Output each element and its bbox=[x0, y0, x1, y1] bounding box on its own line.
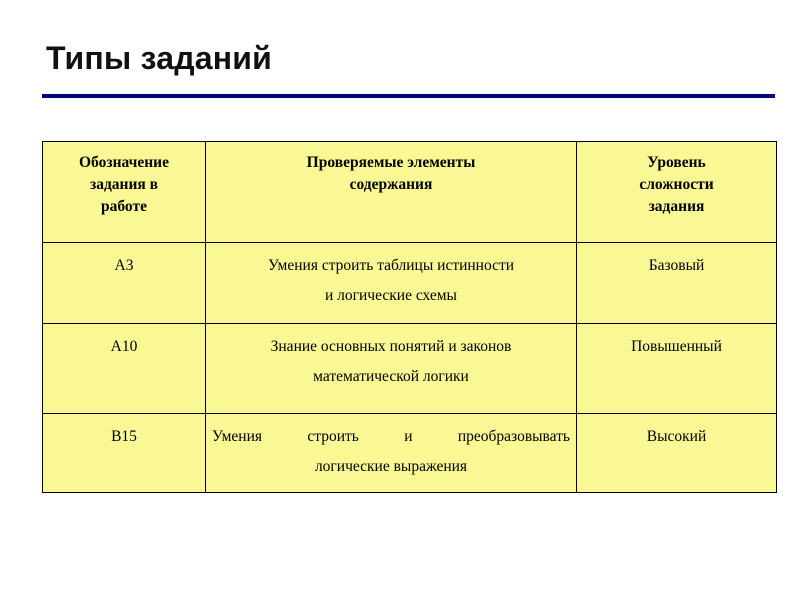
difficulty-level-value: Высокий bbox=[647, 428, 707, 445]
cell-task-code: А3 bbox=[43, 243, 206, 324]
table-row: А3 Умения строить таблицы истинности и л… bbox=[43, 243, 777, 324]
task-code-value: А10 bbox=[111, 338, 138, 355]
column-header-difficulty-level: Уровень сложности задания bbox=[577, 142, 777, 243]
header-line: Уровень bbox=[647, 154, 705, 171]
description-line: Знание основных понятий и законов bbox=[212, 332, 570, 362]
column-header-content-elements: Проверяемые элементы содержания bbox=[206, 142, 577, 243]
page-title: Типы заданий bbox=[46, 39, 272, 77]
column-header-task-code: Обозначение задания в работе bbox=[43, 142, 206, 243]
header-line: Обозначение bbox=[79, 154, 169, 171]
table-row: В15 Умения строить и преобразовывать лог… bbox=[43, 414, 777, 493]
difficulty-level-value: Повышенный bbox=[631, 338, 722, 355]
cell-content-elements: Умения строить и преобразовывать логичес… bbox=[206, 414, 577, 493]
title-underline-rule bbox=[42, 94, 775, 98]
task-code-value: А3 bbox=[115, 257, 134, 274]
cell-difficulty-level: Базовый bbox=[577, 243, 777, 324]
description-line: логические выражения bbox=[212, 452, 570, 482]
description-line: Умения строить и преобразовывать bbox=[212, 422, 570, 452]
cell-task-code: В15 bbox=[43, 414, 206, 493]
header-line: Проверяемые элементы bbox=[307, 154, 476, 171]
task-types-table: Обозначение задания в работе Проверяемые… bbox=[42, 141, 777, 493]
header-line: содержания bbox=[350, 176, 433, 193]
table-row: А10 Знание основных понятий и законов ма… bbox=[43, 324, 777, 414]
description-line: и логические схемы bbox=[212, 281, 570, 311]
description-line: математической логики bbox=[212, 362, 570, 392]
cell-difficulty-level: Высокий bbox=[577, 414, 777, 493]
slide-canvas: Типы заданий Обозначение задания в работ… bbox=[0, 0, 800, 600]
table-header-row: Обозначение задания в работе Проверяемые… bbox=[43, 142, 777, 243]
header-line: задания bbox=[649, 198, 705, 215]
cell-task-code: А10 bbox=[43, 324, 206, 414]
cell-content-elements: Знание основных понятий и законов матема… bbox=[206, 324, 577, 414]
header-line: сложности bbox=[639, 176, 713, 193]
header-line: работе bbox=[101, 198, 147, 215]
description-line: Умения строить таблицы истинности bbox=[212, 251, 570, 281]
difficulty-level-value: Базовый bbox=[649, 257, 705, 274]
cell-content-elements: Умения строить таблицы истинности и логи… bbox=[206, 243, 577, 324]
header-line: задания в bbox=[90, 176, 158, 193]
cell-difficulty-level: Повышенный bbox=[577, 324, 777, 414]
task-code-value: В15 bbox=[111, 428, 137, 445]
